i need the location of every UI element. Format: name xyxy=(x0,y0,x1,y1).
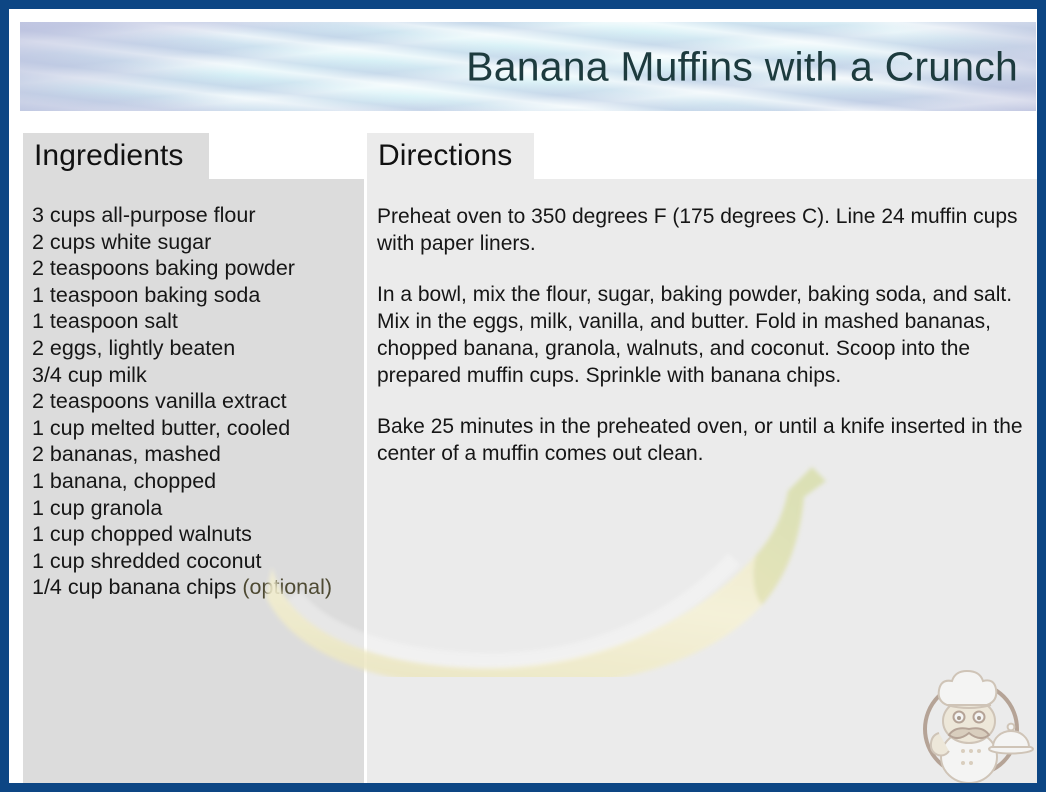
ingredients-panel: 3 cups all-purpose flour2 cups white sug… xyxy=(23,179,364,783)
ingredient-item: 1 cup melted butter, cooled xyxy=(32,415,358,442)
direction-paragraph: Bake 25 minutes in the preheated oven, o… xyxy=(377,413,1023,467)
ingredient-item: 2 teaspoons vanilla extract xyxy=(32,388,358,415)
recipe-card: Banana Muffins with a Crunch Ingredients… xyxy=(0,0,1046,792)
ingredient-item: 1/4 cup banana chips (optional) xyxy=(32,574,358,601)
ingredient-item: 1 cup shredded coconut xyxy=(32,548,358,575)
tab-directions-label: Directions xyxy=(367,139,512,173)
ingredient-item: 3/4 cup milk xyxy=(32,362,358,389)
ingredient-item: 1 cup chopped walnuts xyxy=(32,521,358,548)
page-title: Banana Muffins with a Crunch xyxy=(466,43,1018,90)
tab-ingredients[interactable]: Ingredients xyxy=(23,133,209,179)
direction-paragraph: Preheat oven to 350 degrees F (175 degre… xyxy=(377,203,1023,257)
ingredient-item: 2 teaspoons baking powder xyxy=(32,255,358,282)
direction-paragraph: In a bowl, mix the flour, sugar, baking … xyxy=(377,281,1023,389)
ingredient-item: 3 cups all-purpose flour xyxy=(32,202,358,229)
directions-panel: Preheat oven to 350 degrees F (175 degre… xyxy=(367,179,1037,783)
tab-directions[interactable]: Directions xyxy=(367,133,534,179)
ingredient-item: 1 teaspoon baking soda xyxy=(32,282,358,309)
ingredient-item: 2 eggs, lightly beaten xyxy=(32,335,358,362)
ingredient-item: 1 cup granola xyxy=(32,495,358,522)
header-banner: Banana Muffins with a Crunch xyxy=(20,22,1036,111)
tab-ingredients-label: Ingredients xyxy=(23,139,184,173)
ingredient-item-text: 1/4 cup banana chips xyxy=(32,575,242,599)
ingredient-item: 2 cups white sugar xyxy=(32,229,358,256)
ingredient-item: 2 bananas, mashed xyxy=(32,441,358,468)
ingredient-item: 1 banana, chopped xyxy=(32,468,358,495)
ingredients-list: 3 cups all-purpose flour2 cups white sug… xyxy=(32,202,358,601)
ingredient-item: 1 teaspoon salt xyxy=(32,308,358,335)
directions-text: Preheat oven to 350 degrees F (175 degre… xyxy=(377,203,1023,491)
ingredient-optional-note: (optional) xyxy=(242,575,332,599)
